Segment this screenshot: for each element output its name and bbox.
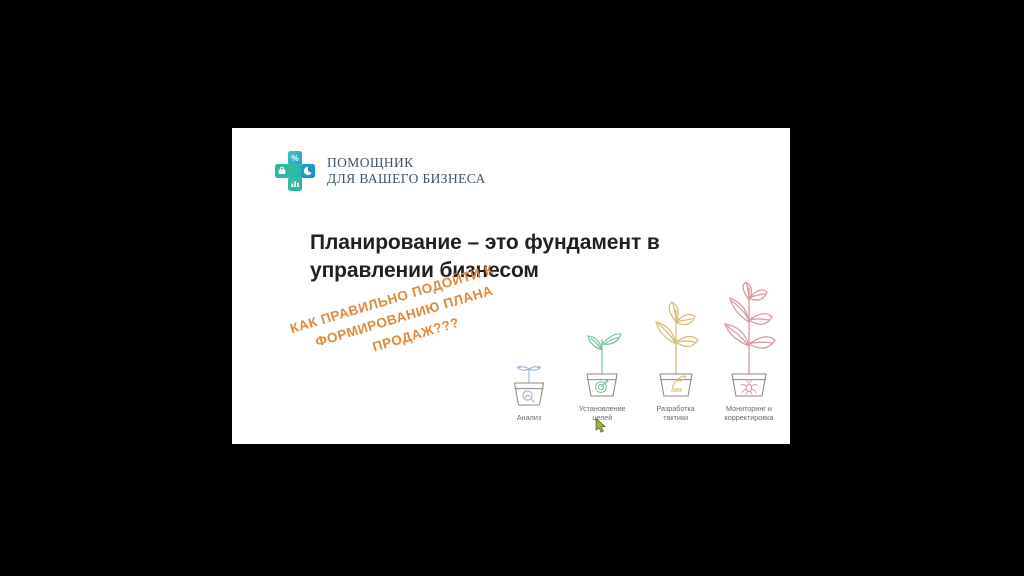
- growth-stage-label: Мониторинг и корректировка: [725, 404, 774, 423]
- sprout-stage-3-icon: [648, 300, 704, 398]
- brand-line-1: ПОМОЩНИК: [327, 155, 486, 171]
- tagline-line-2: ФОРМИРОВАНИЮ ПЛАНА: [293, 275, 515, 359]
- page-title: Планирование – это фундамент в управлени…: [310, 229, 710, 284]
- growth-stage-label: Разработка тактики: [657, 404, 695, 423]
- growth-stage-analysis: Анализ: [494, 345, 564, 423]
- brand-line-2: ДЛЯ ВАШЕГО БИЗНЕСА: [327, 171, 486, 187]
- brand-wordmark: ПОМОЩНИК ДЛЯ ВАШЕГО БИЗНЕСА: [327, 155, 486, 187]
- tagline-line-3: ПРОДАЖ???: [310, 295, 521, 375]
- growth-stage-monitoring: Мониторинг и корректировка: [714, 282, 784, 423]
- medical-cross-logo-icon: %: [274, 150, 316, 192]
- growth-stage-label: Анализ: [517, 413, 541, 423]
- sprout-stage-1-icon: [506, 345, 552, 407]
- video-player-stage[interactable]: % ПОМОЩНИК ДЛЯ ВАШЕГО БИЗНЕСА: [0, 0, 1024, 576]
- growth-stages-diagram: Анализ: [494, 278, 784, 423]
- sprout-stage-2-icon: [578, 320, 626, 398]
- sprout-stage-4-icon: [716, 282, 782, 398]
- svg-text:%: %: [291, 153, 299, 163]
- brand-logo: % ПОМОЩНИК ДЛЯ ВАШЕГО БИЗНЕСА: [274, 150, 486, 192]
- growth-stage-goal-setting: Установление целей: [567, 320, 637, 423]
- presentation-slide[interactable]: % ПОМОЩНИК ДЛЯ ВАШЕГО БИЗНЕСА: [232, 128, 790, 444]
- growth-stage-label: Установление целей: [579, 404, 626, 423]
- growth-stage-tactics: Разработка тактики: [641, 300, 711, 423]
